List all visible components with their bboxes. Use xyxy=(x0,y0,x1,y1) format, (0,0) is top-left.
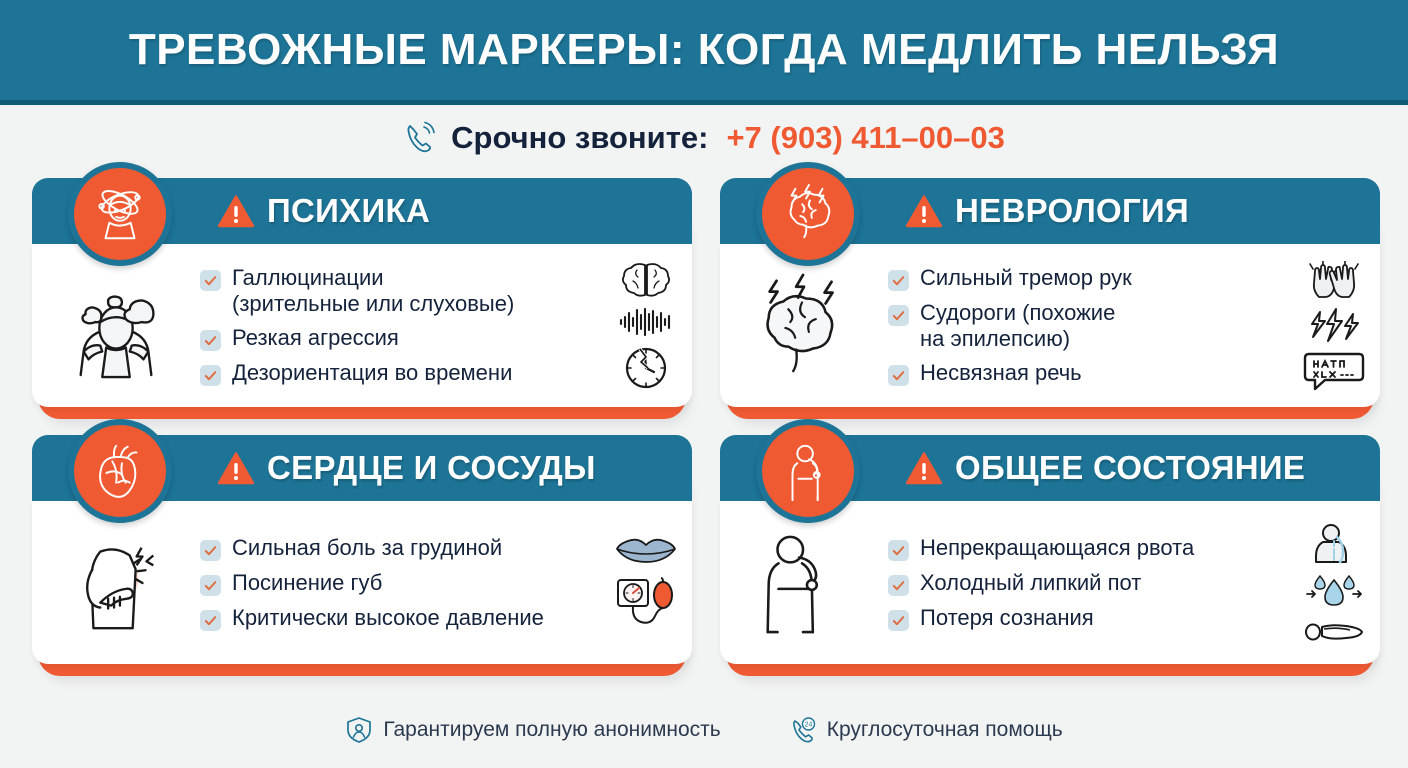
list-item-label: Посинение губ xyxy=(232,570,382,596)
check-icon xyxy=(888,610,909,631)
card-badge xyxy=(756,162,860,266)
warning-triangle-icon xyxy=(218,452,254,485)
list-item: Непрекращающаяся рвота xyxy=(888,535,1284,561)
person-sick-icon xyxy=(777,440,839,502)
header-divider xyxy=(0,100,1408,105)
dizzy-head-icon xyxy=(89,183,151,245)
brain-lightning-illustration-icon xyxy=(745,273,863,379)
card-title: ПСИХИКА xyxy=(267,192,430,230)
card-symptom-list: Сильный тремор рук Судороги (похожие на … xyxy=(888,265,1288,387)
list-item: Критически высокое давление xyxy=(200,605,596,631)
footer-item-24h: 24 Круглосуточная помощь xyxy=(789,716,1063,744)
blue-lips-icon xyxy=(615,536,677,568)
card-symptom-list: Галлюцинации (зрительные или слуховые) Р… xyxy=(200,265,600,387)
footer-item-label: Круглосуточная помощь xyxy=(827,718,1063,742)
list-item: Сильная боль за грудиной xyxy=(200,535,596,561)
check-icon xyxy=(888,270,909,291)
card-body: Сильная боль за грудиной Посинение губ xyxy=(32,501,692,664)
check-icon xyxy=(888,305,909,326)
card-illustration xyxy=(32,530,200,636)
list-item-label: Сильный тремор рук xyxy=(920,265,1132,291)
check-icon xyxy=(200,575,221,596)
page-header: ТРЕВОЖНЫЕ МАРКЕРЫ: КОГДА МЕДЛИТЬ НЕЛЬЗЯ xyxy=(0,0,1408,100)
shaking-hands-icon xyxy=(1306,261,1362,299)
card-badge xyxy=(68,419,172,523)
list-item: Судороги (похожие на эпилепсию) xyxy=(888,300,1284,352)
svg-text:24: 24 xyxy=(804,722,812,729)
infographic-page: ТРЕВОЖНЫЕ МАРКЕРЫ: КОГДА МЕДЛИТЬ НЕЛЬЗЯ … xyxy=(0,0,1408,768)
blood-pressure-monitor-icon xyxy=(615,577,677,629)
footer-item-anonymity: Гарантируем полную анонимность xyxy=(345,716,720,744)
lightning-bolts-icon xyxy=(1308,308,1360,342)
page-title: ТРЕВОЖНЫЕ МАРКЕРЫ: КОГДА МЕДЛИТЬ НЕЛЬЗЯ xyxy=(129,25,1279,75)
warning-triangle-icon xyxy=(906,452,942,485)
list-item-label: Критически высокое давление xyxy=(232,605,544,631)
list-item: Сильный тремор рук xyxy=(888,265,1284,291)
person-holding-head-icon xyxy=(57,273,175,379)
broken-clock-icon xyxy=(623,345,669,391)
check-icon xyxy=(888,540,909,561)
check-icon xyxy=(200,610,221,631)
check-icon xyxy=(200,365,221,386)
card-side-icons xyxy=(1288,523,1380,643)
card-illustration xyxy=(32,273,200,379)
phone-ringing-icon xyxy=(403,121,437,155)
heart-anatomy-icon xyxy=(89,440,151,502)
phone-callout: Срочно звоните: +7 (903) 411–00–03 xyxy=(0,108,1408,168)
card-body: Галлюцинации (зрительные или слуховые) Р… xyxy=(32,244,692,407)
card-header: НЕВРОЛОГИЯ xyxy=(720,178,1380,244)
card-symptom-list: Сильная боль за грудиной Посинение губ xyxy=(200,535,600,631)
card-header: СЕРДЦЕ И СОСУДЫ xyxy=(32,435,692,501)
card-title: ОБЩЕЕ СОСТОЯНИЕ xyxy=(955,449,1305,487)
phone-label: Срочно звоните: xyxy=(451,120,708,156)
list-item: Посинение губ xyxy=(200,570,596,596)
sound-wave-icon xyxy=(618,308,674,336)
list-item-label: Дезориентация во времени xyxy=(232,360,512,386)
check-icon xyxy=(200,330,221,351)
unconscious-person-icon xyxy=(1304,617,1364,643)
brain-top-icon xyxy=(621,261,671,299)
chest-pain-person-icon xyxy=(57,530,175,636)
card-body: Сильный тремор рук Судороги (похожие на … xyxy=(720,244,1380,407)
card-badge xyxy=(756,419,860,523)
sweat-drops-icon xyxy=(1306,572,1362,608)
list-item: Потеря сознания xyxy=(888,605,1284,631)
check-icon xyxy=(200,270,221,291)
phone-number[interactable]: +7 (903) 411–00–03 xyxy=(726,120,1004,156)
list-item: Резкая агрессия xyxy=(200,325,596,351)
card-illustration xyxy=(720,273,888,379)
list-item: Холодный липкий пот xyxy=(888,570,1284,596)
card-title: НЕВРОЛОГИЯ xyxy=(955,192,1189,230)
list-item-label: Судороги (похожие на эпилепсию) xyxy=(920,300,1115,352)
list-item-label: Резкая агрессия xyxy=(232,325,399,351)
list-item-label: Холодный липкий пот xyxy=(920,570,1141,596)
shield-person-icon xyxy=(345,716,373,744)
list-item: Галлюцинации (зрительные или слуховые) xyxy=(200,265,596,317)
list-item-label: Потеря сознания xyxy=(920,605,1094,631)
person-nausea-icon xyxy=(745,530,863,636)
list-item-label: Несвязная речь xyxy=(920,360,1082,386)
list-item: Несвязная речь xyxy=(888,360,1284,386)
card-header: ПСИХИКА xyxy=(32,178,692,244)
card-symptom-list: Непрекращающаяся рвота Холодный липкий п… xyxy=(888,535,1288,631)
vomiting-person-icon xyxy=(1307,523,1361,563)
phone-24h-icon: 24 xyxy=(789,716,817,744)
list-item: Дезориентация во времени xyxy=(200,360,596,386)
list-item-label: Сильная боль за грудиной xyxy=(232,535,502,561)
check-icon xyxy=(888,365,909,386)
check-icon xyxy=(200,540,221,561)
card-heart: СЕРДЦЕ И СОСУДЫ xyxy=(32,435,692,664)
card-title: СЕРДЦЕ И СОСУДЫ xyxy=(267,449,596,487)
card-header: ОБЩЕЕ СОСТОЯНИЕ xyxy=(720,435,1380,501)
card-side-icons xyxy=(600,261,692,391)
card-neurology: НЕВРОЛОГИЯ xyxy=(720,178,1380,407)
card-badge xyxy=(68,162,172,266)
warning-triangle-icon xyxy=(906,195,942,228)
card-body: Непрекращающаяся рвота Холодный липкий п… xyxy=(720,501,1380,664)
card-side-icons xyxy=(1288,261,1380,391)
card-illustration xyxy=(720,530,888,636)
check-icon xyxy=(888,575,909,596)
list-item-label: Непрекращающаяся рвота xyxy=(920,535,1194,561)
warning-triangle-icon xyxy=(218,195,254,228)
card-side-icons xyxy=(600,536,692,629)
list-item-label: Галлюцинации (зрительные или слуховые) xyxy=(232,265,514,317)
card-general: ОБЩЕЕ СОСТОЯНИЕ xyxy=(720,435,1380,664)
card-psyche: ПСИХИКА xyxy=(32,178,692,407)
footer-item-label: Гарантируем полную анонимность xyxy=(383,718,720,742)
page-footer: Гарантируем полную анонимность 24 Кругло… xyxy=(0,704,1408,756)
garbled-speech-bubble-icon xyxy=(1303,351,1365,391)
brain-lightning-icon xyxy=(777,183,839,245)
cards-grid: ПСИХИКА xyxy=(32,178,1380,664)
